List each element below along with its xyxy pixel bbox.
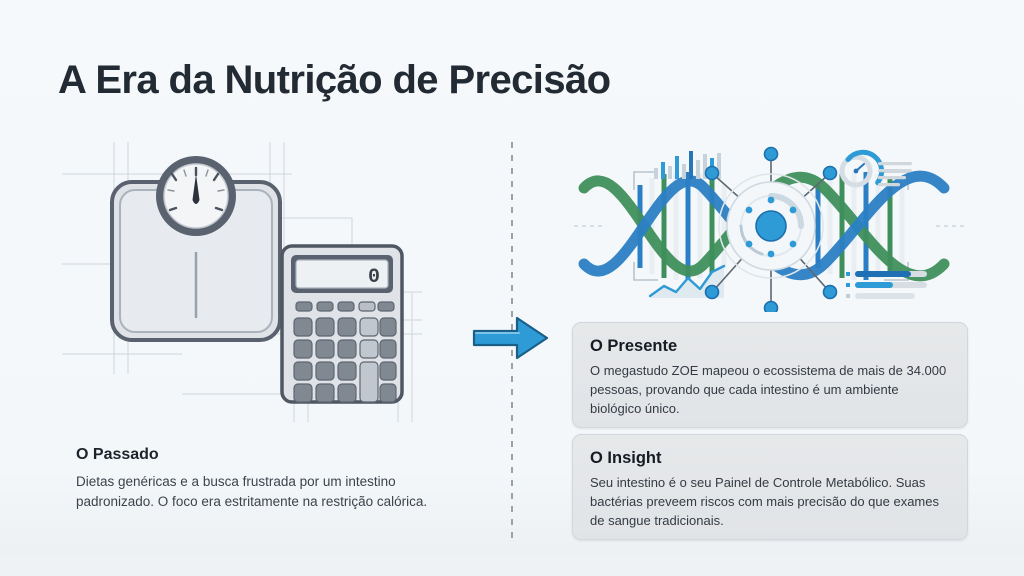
past-caption-title: O Passado (76, 446, 476, 464)
card-presente[interactable]: O Presente O megastudo ZOE mapeou o ecos… (572, 322, 968, 428)
arrow-right-icon (472, 312, 550, 364)
page-title: A Era da Nutrição de Precisão (58, 58, 610, 103)
progress-bars-widget (846, 271, 927, 299)
dna-dashboard-svg (566, 140, 976, 312)
calculator-icon: 0 (282, 246, 402, 402)
past-caption: O Passado Dietas genéricas e a busca fru… (76, 446, 476, 512)
bottom-band (0, 554, 1024, 576)
past-illustration: 0 (62, 142, 422, 422)
card-presente-body: O megastudo ZOE mapeou o ecossistema de … (590, 362, 950, 419)
slide-canvas: A Era da Nutrição de Precisão (0, 0, 1024, 576)
transition-arrow (472, 312, 550, 364)
card-presente-title: O Presente (590, 337, 950, 356)
past-caption-body: Dietas genéricas e a busca frustrada por… (76, 472, 476, 512)
present-illustration (566, 140, 976, 312)
card-insight-title: O Insight (590, 449, 950, 468)
card-insight[interactable]: O Insight Seu intestino é o seu Painel d… (572, 434, 968, 540)
central-hub-node (719, 174, 823, 278)
gauge-dial-widget (842, 145, 889, 189)
calculator-display: 0 (368, 266, 380, 289)
card-insight-body: Seu intestino é o seu Painel de Controle… (590, 474, 950, 531)
bathroom-scale-icon (112, 156, 280, 340)
scale-calculator-svg: 0 (62, 142, 422, 422)
